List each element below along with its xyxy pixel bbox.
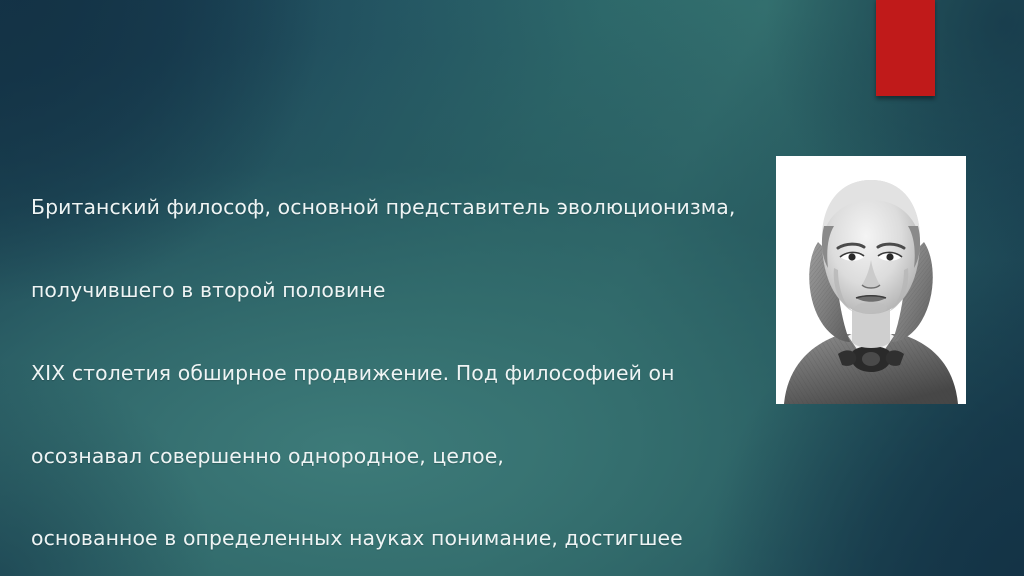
portrait-illustration xyxy=(776,156,966,404)
body-line: осознавал совершенно однородное, целое, xyxy=(31,443,771,471)
body-line: получившего в второй половине xyxy=(31,277,771,305)
presentation-slide: Британский философ, основной представите… xyxy=(0,0,1024,576)
body-line: XIX столетия обширное продвижение. Под ф… xyxy=(31,360,771,388)
slide-body-text: Британский философ, основной представите… xyxy=(31,139,771,576)
body-line: основанное в определенных науках пониман… xyxy=(31,525,771,553)
body-line: Британский философ, основной представите… xyxy=(31,194,771,222)
herbert-spencer-engraving-portrait xyxy=(776,156,966,404)
red-accent-rectangle xyxy=(876,0,935,96)
